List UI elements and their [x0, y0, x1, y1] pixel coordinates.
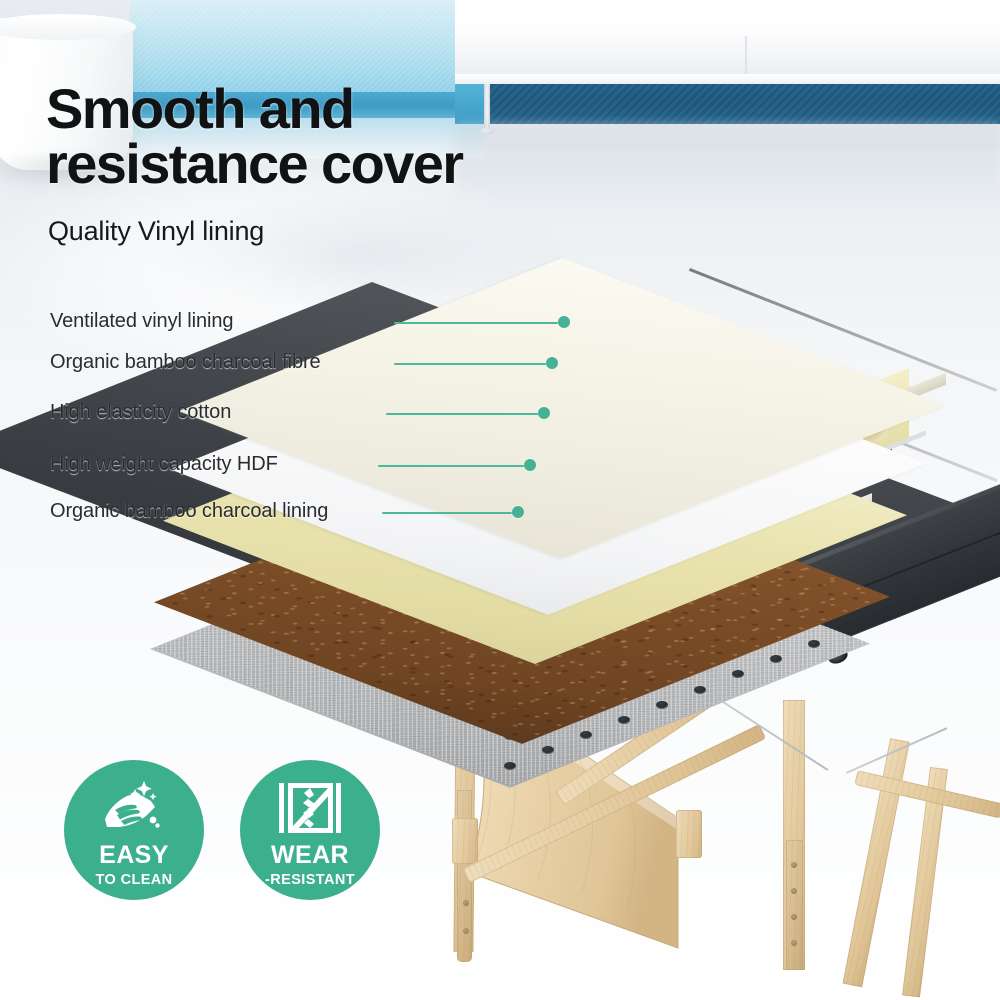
badge-subtitle: -RESISTANT	[265, 873, 355, 888]
leader-dot-icon	[538, 407, 550, 419]
callout-label: High weight capacity HDF	[50, 453, 278, 476]
leader-dot-icon	[524, 459, 536, 471]
badge-easy-to-clean[interactable]: EASY TO CLEAN	[64, 760, 204, 900]
callout-label: High elasticity cotton	[50, 401, 231, 424]
leader-line	[394, 363, 554, 365]
leader-line	[386, 413, 546, 415]
hand-wipe-sparkle-icon	[97, 779, 171, 837]
callout-label: Ventilated vinyl lining	[50, 310, 233, 333]
leader-dot-icon	[546, 357, 558, 369]
leader-line	[394, 322, 566, 324]
badge-title: WEAR	[271, 843, 349, 868]
callout-label: Organic bamboo charcoal lining	[50, 500, 328, 523]
torn-fabric-slash-icon	[273, 779, 347, 837]
leader-line	[378, 465, 530, 467]
leader-dot-icon	[512, 506, 524, 518]
leader-dot-icon	[558, 316, 570, 328]
callout-label: Organic bamboo charcoal fibre	[50, 351, 321, 374]
badge-title: EASY	[99, 843, 169, 868]
badge-subtitle: TO CLEAN	[95, 873, 172, 888]
product-infographic: Smooth and resistance cover Quality Viny…	[0, 0, 1000, 1000]
leader-line	[382, 512, 518, 514]
badge-wear-resistant[interactable]: WEAR -RESISTANT	[240, 760, 380, 900]
